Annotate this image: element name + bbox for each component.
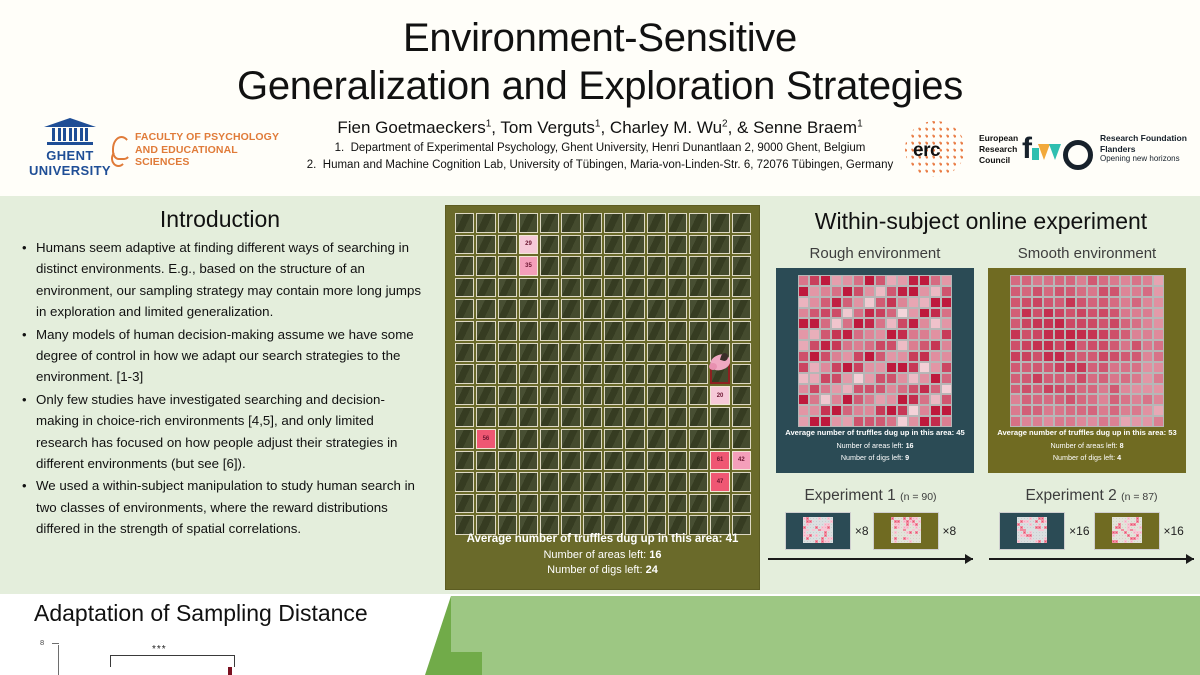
fwo-logo-text: Research Foundation Flanders Opening new… xyxy=(1100,133,1187,165)
truffle-grid[interactable]: 29352056614247 xyxy=(455,213,751,535)
grid-cell[interactable] xyxy=(647,494,666,514)
grid-cell[interactable] xyxy=(519,386,538,406)
grid-cell[interactable] xyxy=(668,364,687,384)
grid-cell[interactable] xyxy=(647,256,666,276)
heatmap-cell xyxy=(897,362,908,373)
grid-cell[interactable] xyxy=(583,407,602,427)
grid-cell[interactable] xyxy=(519,343,538,363)
grid-cell[interactable] xyxy=(604,494,623,514)
grid-cell[interactable] xyxy=(625,386,644,406)
grid-cell[interactable] xyxy=(732,235,751,255)
grid-cell[interactable] xyxy=(455,451,474,471)
grid-cell[interactable] xyxy=(519,299,538,319)
heatmap-cell xyxy=(809,416,820,427)
heatmap-cell xyxy=(1043,329,1054,340)
grid-cell[interactable] xyxy=(689,256,708,276)
grid-cell[interactable] xyxy=(668,494,687,514)
grid-cell[interactable] xyxy=(732,472,751,492)
grid-cell[interactable] xyxy=(625,278,644,298)
ghent-logo-line-2: UNIVERSITY xyxy=(22,163,118,178)
heatmap-cell xyxy=(1010,308,1021,319)
grid-cell[interactable] xyxy=(476,321,495,341)
grid-cell[interactable] xyxy=(625,472,644,492)
plot-y-tick-icon xyxy=(52,643,59,644)
grid-cell[interactable] xyxy=(540,321,559,341)
experiment-2-thumbs: ×16 ×16 xyxy=(989,512,1194,550)
thumb-cell xyxy=(1139,540,1142,543)
heatmap-cell xyxy=(1098,384,1109,395)
grid-cell[interactable] xyxy=(561,494,580,514)
grid-cell[interactable] xyxy=(519,213,538,233)
grid-cell[interactable] xyxy=(689,472,708,492)
grid-cell[interactable] xyxy=(710,256,729,276)
grid-cell[interactable] xyxy=(476,213,495,233)
grid-cell[interactable] xyxy=(455,407,474,427)
grid-cell[interactable] xyxy=(519,429,538,449)
grid-cell[interactable] xyxy=(476,364,495,384)
rough-heatmap xyxy=(798,275,952,427)
heatmap-cell xyxy=(1065,308,1076,319)
grid-cell[interactable] xyxy=(625,364,644,384)
grid-cell[interactable] xyxy=(519,278,538,298)
heatmap-cell xyxy=(1120,394,1131,405)
grid-cell[interactable] xyxy=(455,343,474,363)
grid-cell[interactable] xyxy=(561,321,580,341)
heatmap-cell xyxy=(831,405,842,416)
heatmap-cell xyxy=(1065,416,1076,427)
heatmap-cell xyxy=(930,405,941,416)
game-digs-value: 24 xyxy=(646,564,658,576)
grid-cell[interactable] xyxy=(689,343,708,363)
grid-cell[interactable] xyxy=(689,235,708,255)
grid-cell-revealed[interactable]: 56 xyxy=(476,429,495,449)
pig-icon xyxy=(708,352,734,374)
grid-cell[interactable] xyxy=(604,235,623,255)
grid-cell[interactable] xyxy=(604,429,623,449)
grid-cell[interactable] xyxy=(583,235,602,255)
heatmap-cell xyxy=(842,297,853,308)
heatmap-cell xyxy=(842,286,853,297)
heatmap-cell xyxy=(1120,275,1131,286)
grid-cell-revealed[interactable]: 61 xyxy=(710,451,729,471)
heatmap-cell xyxy=(908,297,919,308)
grid-cell[interactable] xyxy=(732,321,751,341)
grid-cell[interactable] xyxy=(455,235,474,255)
grid-cell[interactable] xyxy=(604,278,623,298)
grid-cell[interactable] xyxy=(689,278,708,298)
heatmap-cell xyxy=(1131,329,1142,340)
grid-cell[interactable] xyxy=(519,472,538,492)
grid-cell[interactable] xyxy=(647,213,666,233)
heatmap-cell xyxy=(886,362,897,373)
grid-cell[interactable] xyxy=(583,343,602,363)
grid-cell[interactable] xyxy=(498,494,517,514)
grid-cell-revealed[interactable]: 35 xyxy=(519,256,538,276)
grid-cell[interactable] xyxy=(668,407,687,427)
heatmap-cell xyxy=(941,351,952,362)
grid-cell[interactable] xyxy=(476,407,495,427)
thumb-grid-icon xyxy=(1017,517,1047,543)
grid-cell[interactable] xyxy=(540,299,559,319)
grid-cell[interactable] xyxy=(668,386,687,406)
environment-rough: Rough environment Average number of truf… xyxy=(776,245,974,473)
grid-cell[interactable] xyxy=(540,364,559,384)
grid-cell[interactable] xyxy=(455,213,474,233)
grid-cell[interactable] xyxy=(647,472,666,492)
heatmap-cell xyxy=(1120,405,1131,416)
grid-cell[interactable] xyxy=(519,451,538,471)
grid-cell[interactable] xyxy=(604,407,623,427)
grid-cell[interactable] xyxy=(647,451,666,471)
grid-cell[interactable] xyxy=(540,429,559,449)
sampling-distance-plot: 8 *** xyxy=(40,645,290,675)
grid-cell[interactable] xyxy=(625,407,644,427)
grid-cell[interactable] xyxy=(455,278,474,298)
grid-cell[interactable] xyxy=(625,451,644,471)
heatmap-cell xyxy=(897,394,908,405)
heatmap-cell xyxy=(875,340,886,351)
grid-cell[interactable] xyxy=(625,299,644,319)
grid-cell[interactable] xyxy=(625,256,644,276)
grid-cell[interactable] xyxy=(668,451,687,471)
heatmap-cell xyxy=(941,297,952,308)
grid-cell[interactable] xyxy=(647,299,666,319)
grid-cell[interactable] xyxy=(732,364,751,384)
heatmap-cell xyxy=(1043,318,1054,329)
grid-cell[interactable] xyxy=(732,494,751,514)
grid-cell[interactable] xyxy=(604,256,623,276)
heatmap-cell xyxy=(798,416,809,427)
heatmap-cell xyxy=(1021,394,1032,405)
heatmap-cell xyxy=(864,297,875,308)
grid-cell[interactable] xyxy=(498,364,517,384)
heatmap-cell xyxy=(1076,405,1087,416)
grid-cell[interactable] xyxy=(583,321,602,341)
heatmap-cell xyxy=(930,384,941,395)
heatmap-cell xyxy=(831,318,842,329)
grid-cell[interactable] xyxy=(732,278,751,298)
grid-cell[interactable] xyxy=(455,386,474,406)
grid-cell[interactable] xyxy=(498,472,517,492)
heatmap-cell xyxy=(1142,308,1153,319)
heatmap-cell xyxy=(886,416,897,427)
grid-cell[interactable] xyxy=(604,451,623,471)
heatmap-cell xyxy=(820,416,831,427)
grid-cell[interactable] xyxy=(519,407,538,427)
grid-cell[interactable] xyxy=(455,472,474,492)
grid-cell[interactable] xyxy=(476,299,495,319)
grid-cell[interactable] xyxy=(668,429,687,449)
heatmap-cell xyxy=(831,340,842,351)
grid-cell[interactable] xyxy=(689,299,708,319)
grid-cell[interactable] xyxy=(710,278,729,298)
grid-cell[interactable] xyxy=(540,343,559,363)
grid-cell[interactable] xyxy=(625,343,644,363)
grid-cell[interactable] xyxy=(710,494,729,514)
grid-cell-current[interactable] xyxy=(710,364,729,384)
grid-cell[interactable] xyxy=(710,407,729,427)
grid-cell[interactable] xyxy=(732,256,751,276)
faculty-logo-line-2: AND EDUCATIONAL SCIENCES xyxy=(135,144,290,169)
grid-cell[interactable] xyxy=(519,494,538,514)
list-item: Only few studies have investigated searc… xyxy=(22,389,426,475)
grid-cell[interactable] xyxy=(561,407,580,427)
grid-cell[interactable] xyxy=(647,235,666,255)
grid-cell[interactable] xyxy=(498,451,517,471)
heatmap-cell xyxy=(1120,286,1131,297)
grid-cell[interactable] xyxy=(583,472,602,492)
grid-cell[interactable] xyxy=(561,213,580,233)
heatmap-cell xyxy=(1142,286,1153,297)
thumb-grid-icon xyxy=(803,517,833,543)
heatmap-cell xyxy=(1065,297,1076,308)
heatmap-cell xyxy=(1153,308,1164,319)
grid-cell[interactable] xyxy=(583,256,602,276)
heatmap-cell xyxy=(1087,340,1098,351)
grid-cell[interactable] xyxy=(689,407,708,427)
grid-cell[interactable] xyxy=(583,364,602,384)
heatmap-cell xyxy=(886,297,897,308)
grid-cell[interactable] xyxy=(689,451,708,471)
grid-cell-revealed[interactable]: 47 xyxy=(710,472,729,492)
grid-cell[interactable] xyxy=(540,494,559,514)
grid-cell[interactable] xyxy=(689,321,708,341)
grid-cell[interactable] xyxy=(647,386,666,406)
grid-cell[interactable] xyxy=(498,235,517,255)
grid-cell[interactable] xyxy=(498,213,517,233)
heatmap-cell xyxy=(798,362,809,373)
grid-cell[interactable] xyxy=(519,364,538,384)
grid-cell-revealed[interactable]: 29 xyxy=(519,235,538,255)
grid-cell[interactable] xyxy=(540,407,559,427)
grid-cell[interactable] xyxy=(604,213,623,233)
grid-cell[interactable] xyxy=(583,278,602,298)
grid-cell[interactable] xyxy=(583,299,602,319)
grid-cell[interactable] xyxy=(561,472,580,492)
erc-line-1: European xyxy=(979,133,1018,144)
grid-cell[interactable] xyxy=(668,256,687,276)
grid-cell[interactable] xyxy=(689,494,708,514)
grid-cell[interactable] xyxy=(498,386,517,406)
grid-cell[interactable] xyxy=(710,299,729,319)
grid-cell[interactable] xyxy=(732,429,751,449)
heatmap-cell xyxy=(1076,297,1087,308)
grid-cell[interactable] xyxy=(647,321,666,341)
grid-cell[interactable] xyxy=(604,472,623,492)
game-areas-line: Number of areas left: 16 xyxy=(446,549,759,561)
heatmap-cell xyxy=(864,318,875,329)
poster-root: Environment-Sensitive Generalization and… xyxy=(0,0,1200,675)
grid-cell-revealed[interactable]: 42 xyxy=(732,451,751,471)
grid-cell[interactable] xyxy=(476,343,495,363)
grid-cell[interactable] xyxy=(540,213,559,233)
grid-cell[interactable] xyxy=(498,429,517,449)
grid-cell[interactable] xyxy=(732,343,751,363)
heatmap-cell xyxy=(820,297,831,308)
heatmap-cell xyxy=(919,275,930,286)
grid-cell[interactable] xyxy=(498,299,517,319)
heatmap-cell xyxy=(1032,405,1043,416)
heatmap-cell xyxy=(1153,329,1164,340)
grid-cell[interactable] xyxy=(647,429,666,449)
grid-cell[interactable] xyxy=(689,213,708,233)
grid-cell[interactable] xyxy=(604,321,623,341)
grid-cell[interactable] xyxy=(498,278,517,298)
grid-cell[interactable] xyxy=(561,364,580,384)
heatmap-cell xyxy=(864,275,875,286)
grid-cell[interactable] xyxy=(583,429,602,449)
grid-cell[interactable] xyxy=(625,213,644,233)
grid-cell[interactable] xyxy=(647,407,666,427)
grid-cell[interactable] xyxy=(625,494,644,514)
heatmap-cell xyxy=(853,373,864,384)
heatmap-cell xyxy=(1043,373,1054,384)
heatmap-cell xyxy=(1131,384,1142,395)
grid-cell[interactable] xyxy=(583,213,602,233)
plot-y-tick-label: 8 xyxy=(40,638,44,647)
grid-cell[interactable] xyxy=(476,386,495,406)
erc-line-3: Council xyxy=(979,155,1018,166)
heatmap-cell xyxy=(1043,384,1054,395)
heatmap-cell xyxy=(1010,318,1021,329)
list-item: Many models of human decision-making ass… xyxy=(22,324,426,388)
heatmap-cell xyxy=(1043,416,1054,427)
grid-cell[interactable] xyxy=(455,494,474,514)
grid-cell[interactable] xyxy=(476,472,495,492)
game-caption: Average number of truffles dug up in thi… xyxy=(446,533,759,579)
grid-cell[interactable] xyxy=(455,256,474,276)
grid-cell-revealed[interactable]: 20 xyxy=(710,386,729,406)
grid-cell[interactable] xyxy=(668,472,687,492)
grid-cell[interactable] xyxy=(732,386,751,406)
heatmap-cell xyxy=(809,286,820,297)
grid-cell[interactable] xyxy=(455,321,474,341)
grid-cell[interactable] xyxy=(625,235,644,255)
heatmap-cell xyxy=(853,405,864,416)
grid-cell[interactable] xyxy=(732,407,751,427)
grid-cell[interactable] xyxy=(540,472,559,492)
grid-cell[interactable] xyxy=(625,429,644,449)
heatmap-cell xyxy=(919,351,930,362)
heatmap-cell xyxy=(1087,308,1098,319)
grid-cell[interactable] xyxy=(540,386,559,406)
rough-areas-line: Number of areas left: 16 xyxy=(776,441,974,450)
rough-caption: Average number of truffles dug up in thi… xyxy=(776,428,974,465)
heatmap-cell xyxy=(1043,297,1054,308)
heatmap-cell xyxy=(908,416,919,427)
grid-cell[interactable] xyxy=(519,321,538,341)
heatmap-cell xyxy=(1120,340,1131,351)
grid-cell[interactable] xyxy=(476,494,495,514)
grid-cell[interactable] xyxy=(583,386,602,406)
grid-cell[interactable] xyxy=(689,429,708,449)
heatmap-cell xyxy=(1142,297,1153,308)
grid-cell[interactable] xyxy=(604,299,623,319)
heatmap-cell xyxy=(1032,340,1043,351)
grid-cell[interactable] xyxy=(561,429,580,449)
heatmap-cell xyxy=(941,384,952,395)
grid-cell[interactable] xyxy=(604,386,623,406)
grid-cell[interactable] xyxy=(710,213,729,233)
grid-cell[interactable] xyxy=(668,321,687,341)
heatmap-cell xyxy=(930,416,941,427)
grid-cell[interactable] xyxy=(540,451,559,471)
grid-cell[interactable] xyxy=(476,451,495,471)
grid-cell[interactable] xyxy=(710,321,729,341)
grid-cell[interactable] xyxy=(561,343,580,363)
grid-cell[interactable] xyxy=(561,386,580,406)
heatmap-cell xyxy=(1065,362,1076,373)
grid-cell[interactable] xyxy=(498,256,517,276)
grid-cell[interactable] xyxy=(732,213,751,233)
heatmap-cell xyxy=(820,384,831,395)
grid-cell[interactable] xyxy=(455,299,474,319)
grid-cell[interactable] xyxy=(668,343,687,363)
grid-cell[interactable] xyxy=(561,299,580,319)
grid-cell[interactable] xyxy=(689,386,708,406)
introduction-section: Introduction Humans seem adaptive at fin… xyxy=(0,196,440,594)
grid-cell[interactable] xyxy=(710,429,729,449)
grid-cell[interactable] xyxy=(540,235,559,255)
grid-cell[interactable] xyxy=(561,451,580,471)
grid-cell[interactable] xyxy=(732,299,751,319)
heatmap-cell xyxy=(897,275,908,286)
grid-cell[interactable] xyxy=(498,407,517,427)
heatmap-cell xyxy=(1098,394,1109,405)
grid-cell[interactable] xyxy=(455,429,474,449)
grid-cell[interactable] xyxy=(583,494,602,514)
grid-cell[interactable] xyxy=(689,364,708,384)
grid-cell[interactable] xyxy=(604,343,623,363)
grid-cell[interactable] xyxy=(561,235,580,255)
grid-cell[interactable] xyxy=(498,321,517,341)
grid-cell[interactable] xyxy=(668,299,687,319)
grid-cell[interactable] xyxy=(647,278,666,298)
heatmap-cell xyxy=(1153,373,1164,384)
grid-cell[interactable] xyxy=(561,278,580,298)
heatmap-cell xyxy=(1109,373,1120,384)
grid-cell[interactable] xyxy=(583,451,602,471)
grid-cell[interactable] xyxy=(476,256,495,276)
grid-cell[interactable] xyxy=(476,278,495,298)
heatmap-cell xyxy=(1120,384,1131,395)
grid-cell[interactable] xyxy=(668,235,687,255)
grid-cell[interactable] xyxy=(668,278,687,298)
smooth-areas-label: Number of areas left: xyxy=(1050,441,1117,450)
smooth-heatmap xyxy=(1010,275,1164,427)
grid-cell[interactable] xyxy=(625,321,644,341)
grid-cell[interactable] xyxy=(668,213,687,233)
grid-cell[interactable] xyxy=(540,278,559,298)
environment-smooth-card: Average number of truffles dug up in thi… xyxy=(988,268,1186,473)
grid-cell[interactable] xyxy=(647,343,666,363)
heatmap-cell xyxy=(853,286,864,297)
grid-cell[interactable] xyxy=(647,364,666,384)
grid-cell[interactable] xyxy=(561,256,580,276)
heatmap-cell xyxy=(820,308,831,319)
grid-cell[interactable] xyxy=(476,235,495,255)
heatmap-cell xyxy=(897,308,908,319)
heatmap-cell xyxy=(798,275,809,286)
heatmap-cell xyxy=(1021,275,1032,286)
grid-cell[interactable] xyxy=(498,343,517,363)
grid-cell[interactable] xyxy=(540,256,559,276)
grid-cell[interactable] xyxy=(710,235,729,255)
grid-cell[interactable] xyxy=(455,364,474,384)
environment-rough-card: Average number of truffles dug up in thi… xyxy=(776,268,974,473)
heatmap-cell xyxy=(842,384,853,395)
grid-cell[interactable] xyxy=(604,364,623,384)
